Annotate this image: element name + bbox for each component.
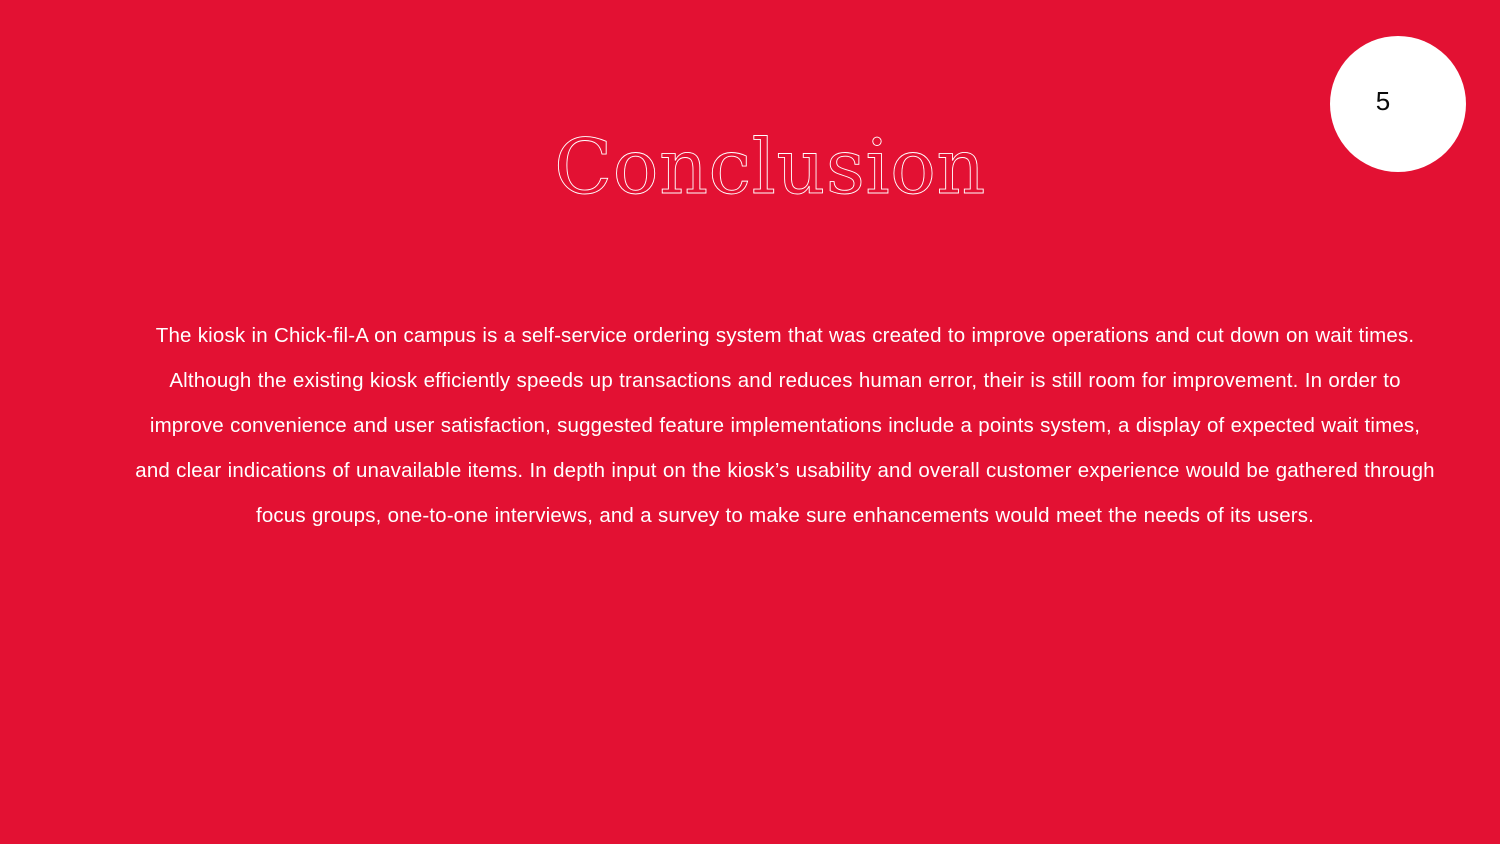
page-title-text: Conclusion xyxy=(554,121,986,213)
presentation-slide: 5 Conclusion The kiosk in Chick-fil-A on… xyxy=(0,0,1500,844)
conclusion-paragraph: The kiosk in Chick-fil-A on campus is a … xyxy=(135,313,1435,538)
page-number-label: 5 xyxy=(1368,86,1398,116)
page-title: Conclusion xyxy=(0,121,1500,213)
